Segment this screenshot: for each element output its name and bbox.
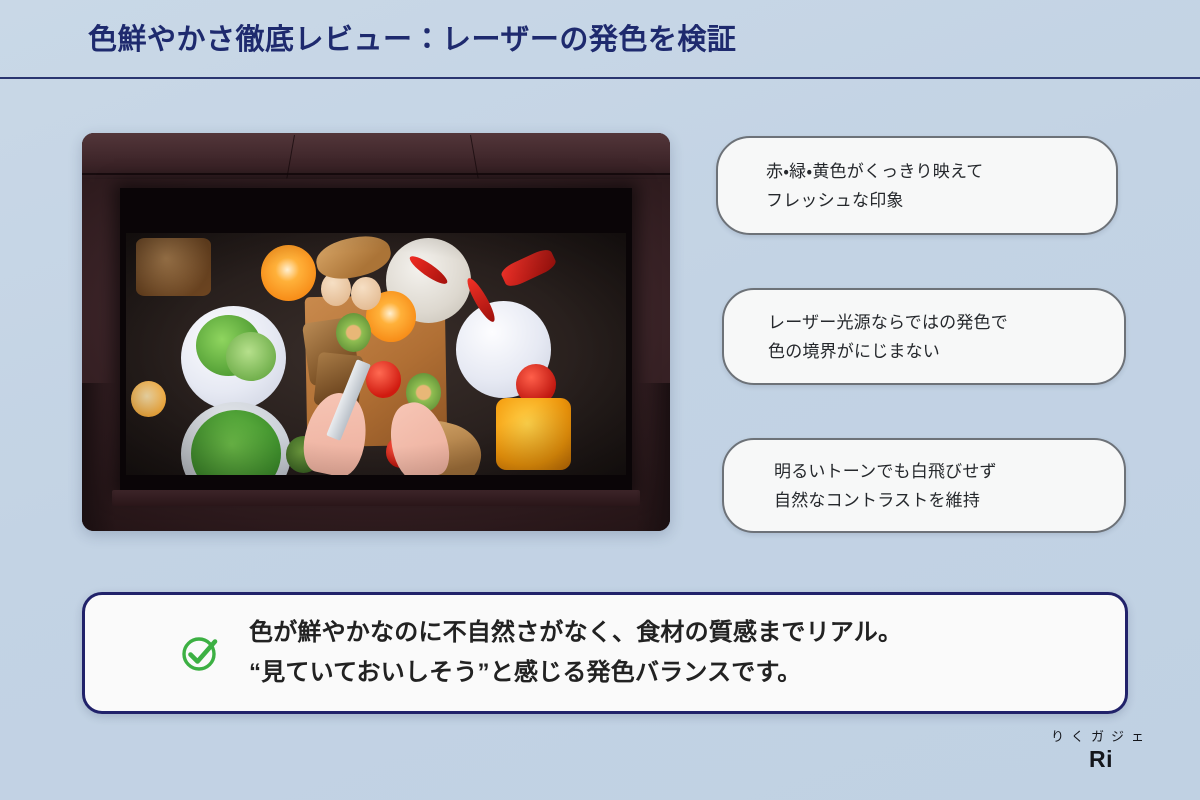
projected-picture — [126, 233, 626, 475]
projector-screenshot-photo — [82, 133, 670, 531]
callout-bubble-1: 赤・緑・黄色がくっきり映えて フレッシュな印象 — [716, 136, 1118, 235]
brand-logo-kana: りくガジェ — [1028, 728, 1174, 746]
brand-logo: りくガジェ Ri — [1028, 728, 1174, 772]
ceiling-seam — [82, 173, 670, 175]
callout-bubble-3: 明るいトーンでも白飛びせず 自然なコントラストを維持 — [722, 438, 1126, 533]
screen-housing — [112, 490, 640, 506]
wall-shadow-right — [636, 383, 670, 531]
header-divider — [0, 77, 1200, 79]
wall-shadow-left — [82, 383, 116, 531]
callout-bubble-3-text: 明るいトーンでも白飛びせず 自然なコントラストを維持 — [724, 457, 997, 515]
header: 色鮮やかさ徹底レビュー：レーザーの発色を検証 — [0, 0, 1200, 78]
poster-canvas: 色鮮やかさ徹底レビュー：レーザーの発色を検証 — [0, 0, 1200, 800]
page-title: 色鮮やかさ徹底レビュー：レーザーの発色を検証 — [88, 20, 736, 60]
callout-bubble-1-text: 赤・緑・黄色がくっきり映えて フレッシュな印象 — [718, 157, 984, 215]
light-falloff — [126, 233, 626, 475]
screen-bezel — [120, 188, 632, 490]
callout-bubble-2-text: レーザー光源ならではの発色で 色の境界がにじまない — [724, 308, 1008, 366]
brand-logo-mark: Ri — [1028, 746, 1174, 772]
summary-panel: 色が鮮やかなのに不自然さがなく、食材の質感までリアル。 “見ていておいしそう”と… — [82, 592, 1128, 714]
summary-text: 色が鮮やかなのに不自然さがなく、食材の質感までリアル。 “見ていておいしそう”と… — [249, 613, 902, 693]
check-circle-icon — [177, 629, 225, 677]
callout-bubble-2: レーザー光源ならではの発色で 色の境界がにじまない — [722, 288, 1126, 385]
